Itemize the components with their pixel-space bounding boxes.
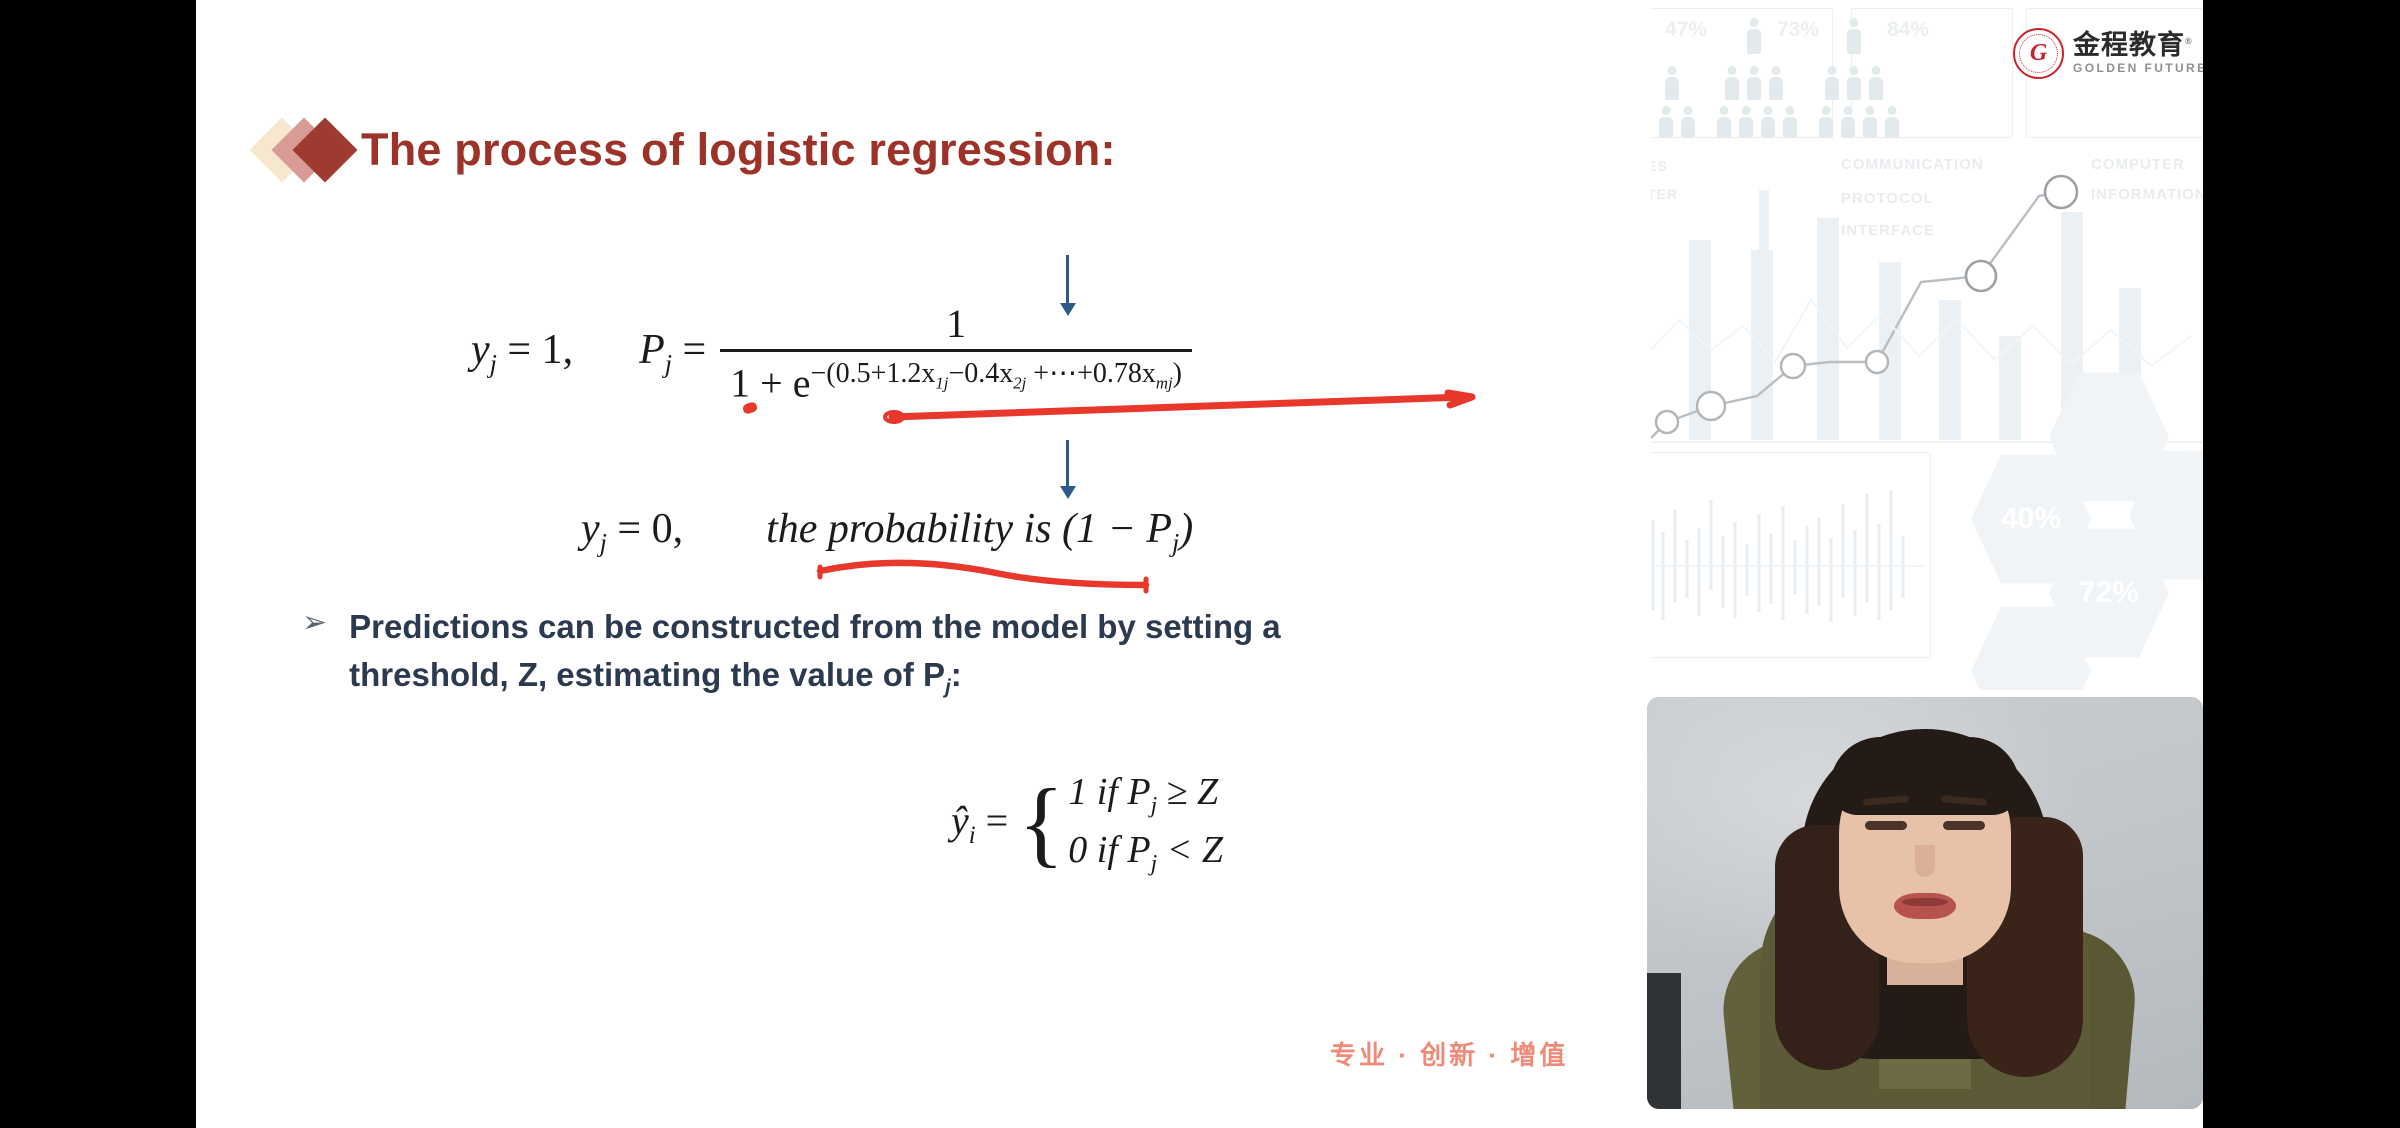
bg-bar: [2061, 212, 2083, 440]
bg-hexagon-72: 72%: [2049, 526, 2169, 660]
logo-registered-mark: ®: [2185, 36, 2193, 46]
eq3-case-2: 0 if Pj < Z: [1068, 828, 1223, 878]
bg-word-computer: COMPUTER: [2091, 156, 2185, 173]
eq2-text: the probability is (1 − Pj): [766, 506, 1193, 552]
eq3-case-1: 1 if Pj ≥ Z: [1068, 770, 1223, 820]
eq3-lhs: ŷi =: [951, 797, 1008, 850]
logo-name-en: GOLDEN FUTURE: [2073, 62, 2203, 74]
bg-bar: [1817, 218, 1839, 440]
down-arrow-icon-bottom: [1066, 440, 1069, 488]
eq3-cases: 1 if Pj ≥ Z 0 if Pj < Z: [1068, 770, 1223, 877]
slide-canvas: 47% 73% 84% ES TER COMMUNICATION: [196, 0, 2203, 1128]
brand-logo: G 金程教育® GOLDEN FUTURE: [2013, 24, 2203, 82]
eq1-numerator: 1: [720, 300, 1192, 349]
bullet-item: ➢ Predictions can be constructed from th…: [302, 603, 1422, 702]
bg-word-information: INFORMATION: [2091, 186, 2203, 203]
title-diamond-bullet-icon: [259, 118, 349, 182]
video-desk-edge: [1647, 973, 1681, 1109]
bg-person-icon: [1681, 106, 1695, 138]
eq3-brace-icon: {: [1018, 786, 1064, 861]
letterbox-bar-right: [2203, 0, 2400, 1128]
bg-card-middle: [1851, 8, 2013, 138]
bg-word-protocol: PROTOCOL: [1841, 190, 1934, 207]
bg-bar: [1999, 336, 2021, 440]
bg-percent-84: 84%: [1887, 18, 1929, 42]
bullet-text: Predictions can be constructed from the …: [349, 603, 1281, 702]
bg-word-ter: TER: [1651, 186, 1678, 202]
bg-hexagon-right: [2129, 448, 2203, 582]
letterbox-bar-left: [0, 0, 196, 1128]
bg-hexagon-top: [2049, 370, 2169, 504]
bg-card-pictogram: [1651, 8, 1833, 138]
bg-person-icon: [1783, 106, 1797, 138]
bg-person-icon: [1717, 106, 1731, 138]
slide-title-row: The process of logistic regression:: [259, 118, 1116, 182]
equation-complement-probability: yj = 0, the probability is (1 − Pj): [581, 505, 1193, 558]
screen-root: 47% 73% 84% ES TER COMMUNICATION: [0, 0, 2400, 1128]
bg-person-icon: [1769, 66, 1783, 100]
down-arrow-icon-top: [1066, 255, 1069, 305]
bg-person-icon: [1841, 106, 1855, 138]
video-hair-fringe: [1830, 737, 2020, 815]
eq1-p-term: Pj =: [639, 326, 706, 379]
background-infographic: 47% 73% 84% ES TER COMMUNICATION: [1651, 0, 2203, 690]
bg-person-icon: [1747, 66, 1761, 100]
logo-name-cn: 金程教育®: [2073, 32, 2203, 59]
page-title: The process of logistic regression:: [361, 124, 1116, 176]
bg-person-icon: [1659, 106, 1673, 138]
bg-word-communication: COMMUNICATION: [1841, 156, 1984, 173]
eq1-fraction: 1 1 + e−(0.5+1.2x1j−0.4x2j +⋯+0.78xmj): [720, 300, 1192, 406]
video-eye-right: [1943, 821, 1985, 830]
bg-bar: [1689, 240, 1711, 440]
equation-logistic-probability: yj = 1, Pj = 1 1 + e−(0.5+1.2x1j−0.4x2j …: [471, 300, 1192, 406]
bg-person-icon: [1869, 66, 1883, 100]
video-eye-left: [1865, 821, 1907, 830]
bg-person-icon: [1739, 106, 1753, 138]
bg-person-icon: [1847, 18, 1861, 54]
eq1-lhs: yj = 1,: [471, 326, 573, 379]
bg-bar: [1939, 300, 1961, 440]
bg-bar: [1751, 250, 1773, 440]
bg-line-chart: [1651, 150, 2203, 450]
bg-word-interface: INTERFACE: [1841, 222, 1935, 239]
bg-person-icon: [1761, 106, 1775, 138]
footer-slogan: 专业 · 创新 · 增值: [1330, 1035, 1568, 1072]
bg-person-icon: [1819, 106, 1833, 138]
bg-person-icon: [1747, 18, 1761, 54]
bg-bar: [1879, 262, 1901, 440]
bg-person-icon: [1885, 106, 1899, 138]
eq2-lhs: yj = 0,: [581, 506, 683, 552]
bg-candlestick-chart: [1651, 470, 1931, 650]
bg-hexagon-bottom: [1971, 604, 2091, 690]
logo-seal-glyph: G: [2015, 41, 2062, 65]
bg-bar: [1759, 190, 1769, 440]
bullet-text-line2: threshold, Z, estimating the value of Pj…: [349, 651, 1281, 702]
bg-hexagon-40: 40%: [1971, 452, 2091, 586]
bg-bar: [2119, 288, 2141, 440]
red-underline-annotation-1: [886, 393, 1476, 423]
bg-card-candles: [1651, 452, 1931, 658]
bg-percent-47: 47%: [1665, 18, 1707, 42]
logo-seal-icon: G: [2013, 28, 2064, 79]
bg-word-es: ES: [1651, 158, 1668, 174]
bg-person-icon: [1847, 66, 1861, 100]
equation-prediction-rule: ŷi = { 1 if Pj ≥ Z 0 if Pj < Z: [951, 770, 1223, 877]
instructor-video-feed[interactable]: [1647, 697, 2203, 1109]
bg-person-icon: [1665, 66, 1679, 100]
logo-text: 金程教育® GOLDEN FUTURE: [2073, 32, 2203, 74]
bg-percent-73: 73%: [1777, 18, 1819, 42]
red-underline-annotation-2: [816, 557, 1186, 593]
bg-person-icon: [1725, 66, 1739, 100]
bullet-arrow-icon: ➢: [302, 603, 327, 702]
bg-person-icon: [1825, 66, 1839, 100]
video-mouth: [1894, 893, 1956, 919]
bg-person-icon: [1863, 106, 1877, 138]
video-nose: [1915, 845, 1935, 877]
